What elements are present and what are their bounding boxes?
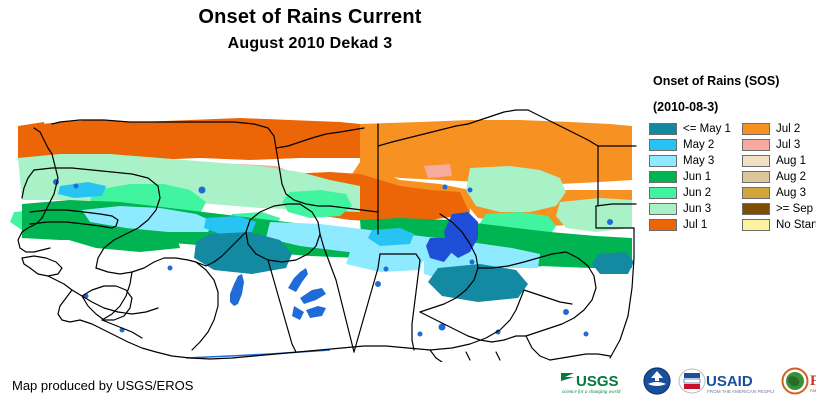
legend-swatch-jul3 <box>742 139 770 151</box>
svg-text:FROM THE AMERICAN PEOPLE: FROM THE AMERICAN PEOPLE <box>707 389 774 394</box>
legend-item-may3[interactable]: May 3 <box>649 154 731 168</box>
legend-swatch-may1-or-earlier <box>649 123 677 135</box>
west-africa-map <box>0 62 640 362</box>
legend-label-aug2: Aug 2 <box>776 171 806 183</box>
legend-label-no-start: No Start <box>776 219 816 231</box>
legend-swatch-jun2 <box>649 187 677 199</box>
svg-text:FEWS NET: FEWS NET <box>810 373 816 389</box>
legend-swatch-may3 <box>649 155 677 167</box>
map-legend: Onset of Rains (SOS) (2010-08-3) <= May … <box>645 70 816 250</box>
legend-item-aug3[interactable]: Aug 3 <box>742 186 816 200</box>
legend-swatch-jun3 <box>649 203 677 215</box>
legend-swatch-jun1 <box>649 171 677 183</box>
usaid-logo: USAID FROM THE AMERICAN PEOPLE <box>678 366 774 396</box>
legend-label-may2: May 2 <box>683 139 714 151</box>
legend-swatch-aug1 <box>742 155 770 167</box>
legend-item-jun1[interactable]: Jun 1 <box>649 170 731 184</box>
legend-title: Onset of Rains (SOS) <box>653 74 779 88</box>
legend-swatch-jul1 <box>649 219 677 231</box>
map-credit: Map produced by USGS/EROS <box>12 378 193 393</box>
legend-swatch-aug3 <box>742 187 770 199</box>
legend-item-aug2[interactable]: Aug 2 <box>742 170 816 184</box>
legend-item-sep1-or-later[interactable]: >= Sep 1 <box>742 202 816 216</box>
legend-item-jul3[interactable]: Jul 3 <box>742 138 816 152</box>
legend-swatch-no-start <box>742 219 770 231</box>
legend-item-may2[interactable]: May 2 <box>649 138 731 152</box>
legend-swatch-may2 <box>649 139 677 151</box>
legend-column-left: <= May 1 May 2 May 3 Jun 1 Jun 2 <box>649 122 731 232</box>
legend-label-jun3: Jun 3 <box>683 203 711 215</box>
legend-label-sep1-or-later: >= Sep 1 <box>776 203 816 215</box>
legend-item-aug1[interactable]: Aug 1 <box>742 154 816 168</box>
legend-item-jun3[interactable]: Jun 3 <box>649 202 731 216</box>
map-canvas[interactable] <box>0 62 640 362</box>
svg-text:USAID: USAID <box>706 373 753 390</box>
svg-text:USGS: USGS <box>576 373 619 390</box>
legend-item-jun2[interactable]: Jun 2 <box>649 186 731 200</box>
legend-label-may3: May 3 <box>683 155 714 167</box>
legend-column-right: Jul 2 Jul 3 Aug 1 Aug 2 Aug 3 <box>742 122 816 232</box>
legend-item-jul1[interactable]: Jul 1 <box>649 218 731 232</box>
noaa-logo <box>643 366 671 396</box>
legend-swatch-jul2 <box>742 123 770 135</box>
page-subtitle: August 2010 Dekad 3 <box>0 35 620 53</box>
legend-label-aug3: Aug 3 <box>776 187 806 199</box>
legend-swatch-sep1-or-later <box>742 203 770 215</box>
legend-item-jul2[interactable]: Jul 2 <box>742 122 816 136</box>
legend-label-aug1: Aug 1 <box>776 155 806 167</box>
legend-label-jun1: Jun 1 <box>683 171 711 183</box>
map-page: Onset of Rains Current August 2010 Dekad… <box>0 0 816 403</box>
svg-text:science for a changing world: science for a changing world <box>562 390 621 395</box>
legend-label-may1-or-earlier: <= May 1 <box>683 123 731 135</box>
legend-label-jul2: Jul 2 <box>776 123 800 135</box>
legend-swatch-aug2 <box>742 171 770 183</box>
usgs-logo: USGS science for a changing world <box>560 366 636 396</box>
legend-label-jun2: Jun 2 <box>683 187 711 199</box>
legend-label-jul1: Jul 1 <box>683 219 707 231</box>
legend-date: (2010-08-3) <box>653 100 718 114</box>
agency-logos: USGS science for a changing world USAID … <box>560 364 810 398</box>
page-title: Onset of Rains Current <box>0 6 620 29</box>
svg-text:FAMINE EARLY WARNING SYSTEMS N: FAMINE EARLY WARNING SYSTEMS NETWORK <box>810 388 816 393</box>
legend-item-may1-or-earlier[interactable]: <= May 1 <box>649 122 731 136</box>
fewsnet-logo: FEWS NET FAMINE EARLY WARNING SYSTEMS NE… <box>781 366 816 396</box>
legend-item-no-start[interactable]: No Start <box>742 218 816 232</box>
legend-label-jul3: Jul 3 <box>776 139 800 151</box>
